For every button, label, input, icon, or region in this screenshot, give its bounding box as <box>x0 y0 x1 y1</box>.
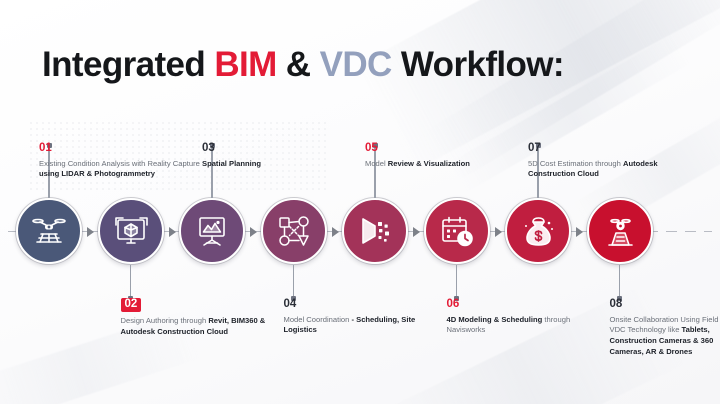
step-description-05: Model Review & Visualization <box>365 159 517 170</box>
computer-model-icon <box>112 212 150 250</box>
step-number-02: 02 <box>121 298 142 313</box>
timeline-node-08[interactable] <box>587 198 653 264</box>
step-label-02: 02Design Authoring through Revit, BIM360… <box>121 294 273 338</box>
calendar-clock-icon <box>438 212 476 250</box>
step-icon-circle-01 <box>16 198 82 264</box>
step-number-05: 05 <box>365 143 378 155</box>
title-part-1: Integrated <box>42 45 214 84</box>
presentation-board-icon <box>193 212 231 250</box>
step-number-06: 06 <box>447 299 460 311</box>
step-label-08: 08Onsite Collaboration Using Field VDC T… <box>610 294 720 358</box>
step-label-06: 064D Modeling & Scheduling through Navis… <box>447 294 599 336</box>
step-number-03: 03 <box>202 143 215 155</box>
timeline-arrow-01 <box>87 227 94 237</box>
timeline-arrow-04 <box>332 227 339 237</box>
timeline-arrow-07 <box>576 227 583 237</box>
step-number-07: 07 <box>528 143 541 155</box>
timeline-arrow-06 <box>495 227 502 237</box>
step-number-08: 08 <box>610 299 623 311</box>
step-description-02: Design Authoring through Revit, BIM360 &… <box>121 316 273 338</box>
timeline-node-06[interactable] <box>424 198 490 264</box>
step-icon-circle-02 <box>98 198 164 264</box>
timeline-node-07[interactable] <box>505 198 571 264</box>
step-icon-circle-05 <box>342 198 408 264</box>
timeline-node-01[interactable] <box>16 198 82 264</box>
step-label-07: 075D Cost Estimation through Autodesk Co… <box>528 138 680 180</box>
title-bim: BIM <box>214 45 276 84</box>
timeline-node-02[interactable] <box>98 198 164 264</box>
title-vdc: VDC <box>320 45 392 84</box>
step-label-05: 05Model Review & Visualization <box>365 138 517 169</box>
step-description-03: Spatial Planning <box>202 159 354 170</box>
step-number-04: 04 <box>284 299 297 311</box>
step-number-01: 01 <box>39 143 52 155</box>
timeline-node-03[interactable] <box>179 198 245 264</box>
timeline-arrow-02 <box>169 227 176 237</box>
timeline-arrow-03 <box>250 227 257 237</box>
timeline-node-05[interactable] <box>342 198 408 264</box>
infographic-canvas: Integrated BIM & VDC Workflow: <box>0 0 720 404</box>
step-description-04: Model Coordination - Scheduling, Site Lo… <box>284 315 436 337</box>
timeline-arrow-05 <box>413 227 420 237</box>
step-description-06: 4D Modeling & Scheduling through Naviswo… <box>447 315 599 337</box>
step-icon-circle-07 <box>505 198 571 264</box>
title-part-2: & <box>277 45 320 84</box>
page-title: Integrated BIM & VDC Workflow: <box>42 47 564 82</box>
drone-scanner-icon <box>30 212 68 250</box>
timeline-node-04[interactable] <box>261 198 327 264</box>
title-part-3: Workflow: <box>392 45 564 84</box>
step-icon-circle-06 <box>424 198 490 264</box>
coordination-network-icon <box>275 212 313 250</box>
step-icon-circle-03 <box>179 198 245 264</box>
step-description-07: 5D Cost Estimation through Autodesk Cons… <box>528 159 680 181</box>
money-bag-icon <box>519 212 557 250</box>
step-label-04: 04Model Coordination - Scheduling, Site … <box>284 294 436 336</box>
step-description-08: Onsite Collaboration Using Field VDC Tec… <box>610 315 720 358</box>
model-review-icon <box>356 212 394 250</box>
onsite-drone-laptop-icon <box>601 212 639 250</box>
step-icon-circle-08 <box>587 198 653 264</box>
step-label-01: 01Existing Condition Analysis with Reali… <box>39 138 207 180</box>
step-description-01: Existing Condition Analysis with Reality… <box>39 159 207 181</box>
step-icon-circle-04 <box>261 198 327 264</box>
step-label-03: 03Spatial Planning <box>202 138 354 169</box>
